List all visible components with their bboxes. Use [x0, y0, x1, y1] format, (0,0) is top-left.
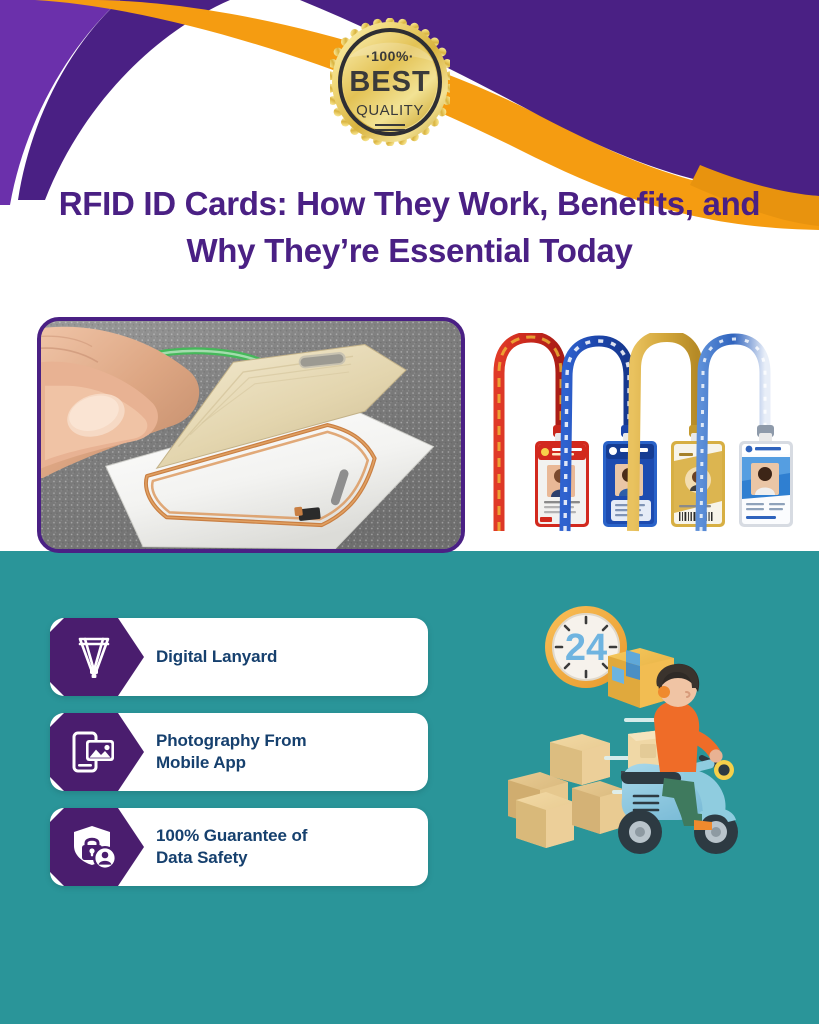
stacked-boxes [508, 734, 626, 848]
feature-list: Digital Lanyard Photography FromMobile A… [50, 618, 428, 903]
feature-label: 100% Guarantee ofData Safety [156, 808, 418, 886]
feature-label: Digital Lanyard [156, 618, 418, 696]
seal-quality-text: QUALITY [330, 102, 450, 119]
lanyard-red [499, 337, 589, 531]
best-quality-seal: ·100%· BEST QUALITY [330, 18, 450, 146]
rfid-card-photo [37, 317, 465, 553]
seal-percent-text: ·100%· [330, 48, 450, 64]
shield-lock-user-icon [66, 819, 122, 875]
infographic-page: ·100%· BEST QUALITY RFID ID Cards: How T… [0, 0, 819, 1024]
lanyard-id-cards-photo [487, 333, 799, 533]
feature-row-mobile-photography[interactable]: Photography FromMobile App [50, 713, 428, 791]
feature-row-data-safety[interactable]: 100% Guarantee ofData Safety [50, 808, 428, 886]
seal-rule-top [375, 124, 405, 126]
feature-row-digital-lanyard[interactable]: Digital Lanyard [50, 618, 428, 696]
delivery-scooter-illustration: 24 [488, 592, 788, 882]
mobile-photo-icon [66, 724, 122, 780]
seal-best-text: BEST [330, 66, 450, 99]
clock-24-label: 24 [565, 627, 607, 669]
rfid-card-photo-image [41, 321, 461, 553]
feature-label: Photography FromMobile App [156, 713, 418, 791]
seal-rule-bottom [375, 129, 405, 131]
lanyard-icon [66, 629, 122, 685]
page-title: RFID ID Cards: How They Work, Benefits, … [40, 180, 779, 274]
